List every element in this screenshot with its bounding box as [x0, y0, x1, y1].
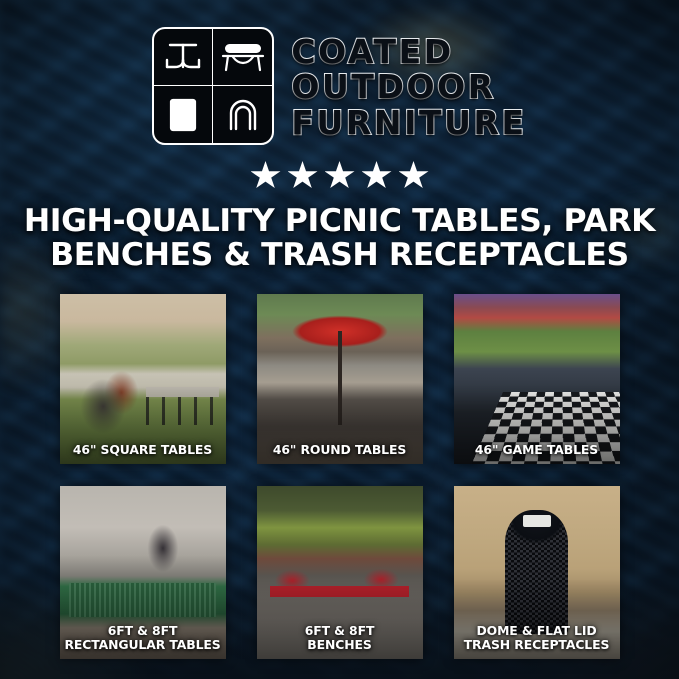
picnic-table-icon: [154, 29, 213, 86]
wordmark-line-coated: COATED: [291, 35, 526, 69]
product-caption: 46" GAME TABLES: [454, 443, 620, 457]
star-icon: [251, 161, 281, 190]
star-icon: [362, 161, 392, 190]
product-tile-benches[interactable]: 6FT & 8FT BENCHES: [257, 486, 423, 659]
coated-outdoor-furniture-logo: [152, 27, 274, 145]
star-rating: [251, 161, 429, 190]
caption-line-1: 46" ROUND TABLES: [260, 443, 420, 457]
caption-line-1: 46" GAME TABLES: [457, 443, 617, 457]
caption-line-1: 6FT & 8FT: [260, 624, 420, 638]
product-grid: 46" SQUARE TABLES 46" ROUND TABLES 46" G…: [60, 294, 620, 659]
brand-lockup: COATED OUTDOOR FURNITURE: [152, 27, 526, 145]
product-caption: 6FT & 8FT BENCHES: [257, 624, 423, 651]
trash-receptacle-icon: [154, 86, 213, 143]
product-tile-round-tables[interactable]: 46" ROUND TABLES: [257, 294, 423, 464]
caption-line-2: TRASH RECEPTACLES: [457, 638, 617, 652]
caption-line-1: DOME & FLAT LID: [457, 624, 617, 638]
dome-lid-opening: [523, 515, 551, 527]
wordmark-line-outdoor: OUTDOOR: [291, 70, 526, 104]
brand-wordmark: COATED OUTDOOR FURNITURE: [291, 33, 526, 140]
product-tile-game-tables[interactable]: 46" GAME TABLES: [454, 294, 620, 464]
product-caption: 46" SQUARE TABLES: [60, 443, 226, 457]
caption-line-2: BENCHES: [260, 638, 420, 652]
headline: HIGH-QUALITY PICNIC TABLES, PARK BENCHES…: [24, 204, 655, 273]
product-tile-rectangular-tables[interactable]: 6FT & 8FT RECTANGULAR TABLES: [60, 486, 226, 659]
park-bench-icon: [213, 29, 272, 86]
product-caption: 6FT & 8FT RECTANGULAR TABLES: [60, 624, 226, 651]
headline-line-2: BENCHES & TRASH RECEPTACLES: [24, 238, 655, 272]
star-icon: [325, 161, 355, 190]
product-tile-square-tables[interactable]: 46" SQUARE TABLES: [60, 294, 226, 464]
product-caption: 46" ROUND TABLES: [257, 443, 423, 457]
product-caption: DOME & FLAT LID TRASH RECEPTACLES: [454, 624, 620, 651]
caption-line-2: RECTANGULAR TABLES: [63, 638, 223, 652]
promotional-banner: COATED OUTDOOR FURNITURE HIGH-QUALITY PI…: [0, 0, 679, 679]
star-icon: [399, 161, 429, 190]
caption-line-1: 46" SQUARE TABLES: [63, 443, 223, 457]
product-tile-trash-receptacles[interactable]: DOME & FLAT LID TRASH RECEPTACLES: [454, 486, 620, 659]
wordmark-line-furniture: FURNITURE: [291, 106, 526, 140]
headline-line-1: HIGH-QUALITY PICNIC TABLES, PARK: [24, 204, 655, 238]
caption-line-1: 6FT & 8FT: [63, 624, 223, 638]
bike-rack-icon: [213, 86, 272, 143]
star-icon: [288, 161, 318, 190]
